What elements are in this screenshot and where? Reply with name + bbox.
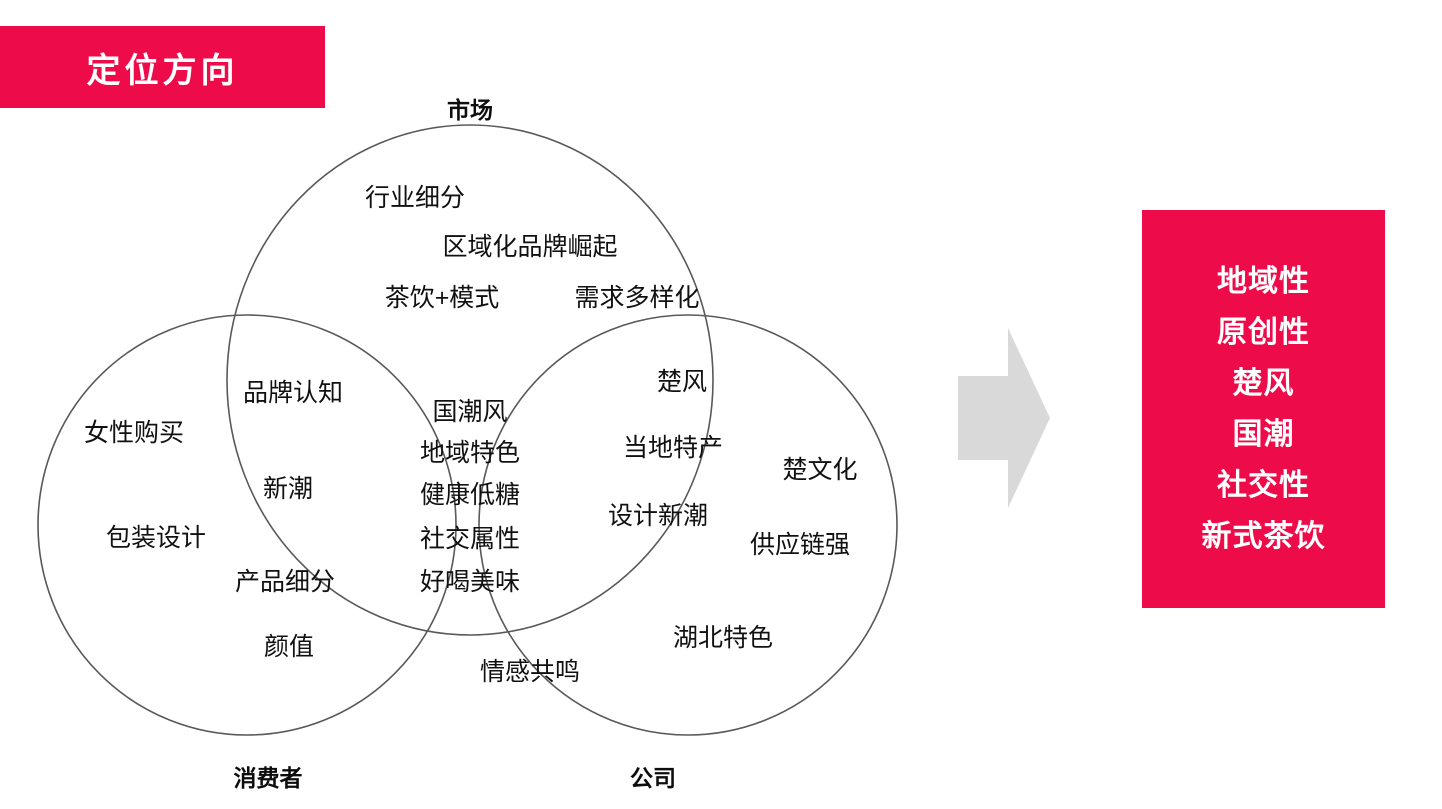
right-arrow-icon: [958, 328, 1050, 508]
result-item-5: 社交性: [1217, 471, 1310, 501]
venn-item-market-1: 行业细分: [365, 186, 465, 211]
venn-item-market-consumer-3: 产品细分: [235, 570, 335, 595]
venn-item-market-consumer-1: 品牌认知: [243, 381, 343, 406]
venn-item-consumer-company-1: 情感共鸣: [480, 660, 580, 685]
venn-item-market-4: 需求多样化: [574, 286, 699, 311]
venn-item-market-company-2: 当地特产: [623, 436, 723, 461]
venn-item-market-company-1: 楚风: [657, 370, 707, 395]
result-item-1: 地域性: [1217, 267, 1310, 297]
venn-item-market-consumer-4: 颜值: [264, 635, 314, 660]
venn-item-company-3: 湖北特色: [673, 626, 773, 651]
result-panel: 地域性 原创性 楚风 国潮 社交性 新式茶饮: [1142, 210, 1385, 608]
venn-label-company: 公司: [630, 759, 676, 793]
venn-item-center-3: 健康低糖: [420, 483, 520, 508]
slide-canvas: 定位方向 市场 消费者 公司 行业细分 区域化品牌崛起 茶饮+模式 需求多样化 …: [0, 0, 1442, 809]
venn-item-consumer-1: 女性购买: [84, 421, 184, 446]
result-item-4: 国潮: [1233, 420, 1295, 450]
venn-item-company-2: 供应链强: [750, 533, 850, 558]
venn-item-company-1: 楚文化: [782, 458, 857, 483]
venn-label-consumer: 消费者: [234, 759, 303, 793]
venn-item-center-2: 地域特色: [420, 441, 520, 466]
venn-circle-consumer: [38, 315, 456, 735]
result-item-6: 新式茶饮: [1202, 522, 1326, 552]
venn-item-market-consumer-2: 新潮: [263, 477, 313, 502]
venn-item-center-1: 国潮风: [432, 400, 507, 425]
venn-item-consumer-2: 包装设计: [106, 526, 206, 551]
result-item-3: 楚风: [1233, 369, 1295, 399]
venn-item-center-4: 社交属性: [420, 527, 520, 552]
venn-item-market-company-3: 设计新潮: [608, 504, 708, 529]
venn-item-market-2: 区域化品牌崛起: [442, 235, 617, 260]
venn-label-market: 市场: [447, 91, 493, 125]
venn-item-market-3: 茶饮+模式: [385, 286, 500, 311]
result-item-2: 原创性: [1217, 318, 1310, 348]
venn-item-center-5: 好喝美味: [420, 570, 520, 595]
venn-diagram: 市场 消费者 公司 行业细分 区域化品牌崛起 茶饮+模式 需求多样化 品牌认知 …: [0, 80, 940, 809]
